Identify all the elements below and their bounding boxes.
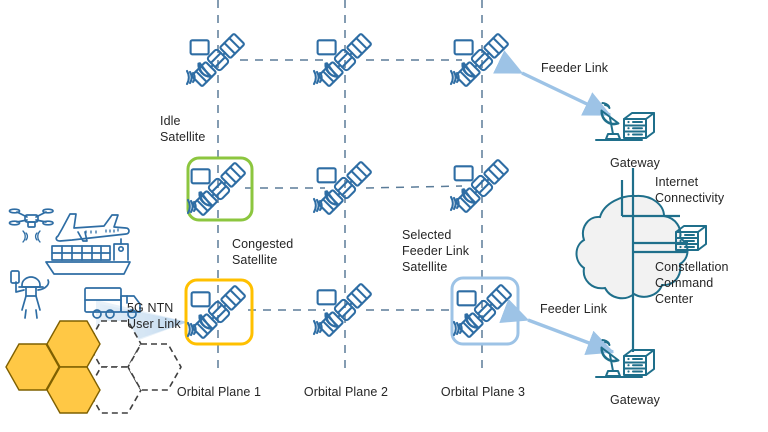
hex-cell-cluster: [6, 321, 181, 413]
constellation-command-center-label: Constellation Command Center: [655, 259, 767, 307]
feeder-link-arrow-bottom: [528, 320, 613, 352]
airplane-icon: [56, 214, 129, 241]
selected-satellite-highlight: [452, 278, 518, 344]
cargo-ship-icon: [46, 239, 130, 274]
internet-connectivity-label: Internet Connectivity: [655, 174, 765, 206]
satellite-plane2-row3[interactable]: [311, 281, 373, 337]
gateway-top-label: Gateway: [594, 155, 676, 171]
user-link-label: 5G NTN User Link: [127, 300, 211, 332]
orbital-plane-2-label: Orbital Plane 2: [290, 384, 402, 400]
person-icon: [11, 271, 49, 318]
satellite-plane1-row2-idle[interactable]: [185, 160, 247, 216]
orbital-plane-1-label: Orbital Plane 1: [163, 384, 275, 400]
command-center-server-icon[interactable]: [676, 226, 706, 250]
satellite-plane1-row1[interactable]: [184, 31, 246, 87]
diagram-canvas: Idle Satellite Congested Satellite Selec…: [0, 0, 768, 432]
orbital-plane-3-label: Orbital Plane 3: [427, 384, 539, 400]
diagram-graphics: [0, 0, 768, 432]
feeder-link-bottom-label: Feeder Link: [540, 301, 636, 317]
satellite-plane2-row2[interactable]: [311, 159, 373, 215]
feeder-link-top-label: Feeder Link: [541, 60, 637, 76]
idle-satellite-label: Idle Satellite: [160, 113, 230, 145]
gateway-top-icon[interactable]: [596, 103, 654, 140]
drone-icon: [10, 209, 54, 242]
feeder-link-arrow-top: [522, 73, 610, 115]
selected-feeder-link-satellite-label: Selected Feeder Link Satellite: [402, 227, 502, 275]
gateway-bottom-label: Gateway: [594, 392, 676, 408]
congested-satellite-label: Congested Satellite: [232, 236, 332, 268]
gateway-bottom-icon[interactable]: [596, 340, 654, 377]
